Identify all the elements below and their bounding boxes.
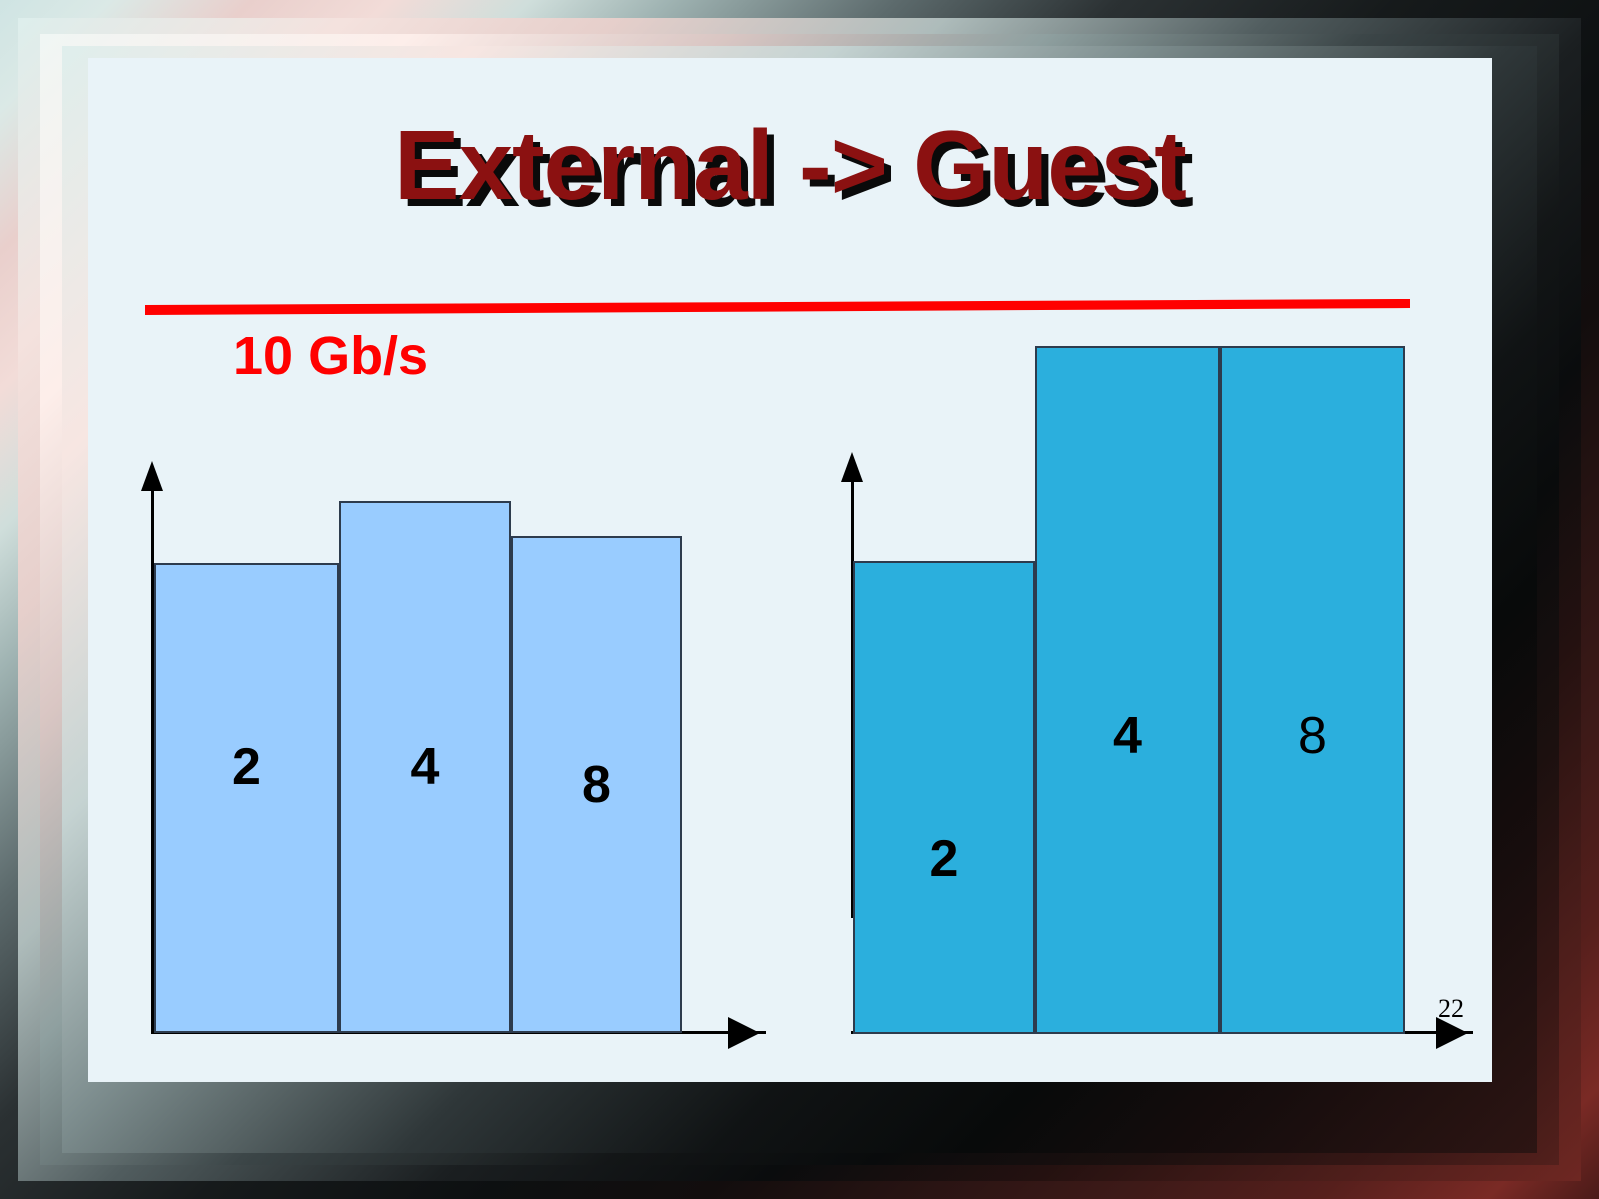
slide-canvas: External -> Guest 10 Gb/s 2 4 8 <box>88 58 1492 1082</box>
right-chart-bar-1-value: 2 <box>853 833 1035 885</box>
left-chart: 2 4 8 <box>128 453 788 1048</box>
right-chart-bar-2-value: 4 <box>1035 710 1220 762</box>
left-chart-bar-1-value: 2 <box>154 741 339 793</box>
left-chart-bar-2-value: 4 <box>339 741 511 793</box>
right-chart-y-axis-arrowhead <box>841 452 863 482</box>
title-underline-rule <box>145 299 1410 315</box>
bandwidth-label: 10 Gb/s <box>233 325 428 387</box>
right-chart-bar-3 <box>1220 346 1405 1034</box>
right-chart: 2 4 8 <box>828 338 1492 1048</box>
page-title: External -> Guest <box>88 114 1492 217</box>
right-chart-bar-3-value: 8 <box>1220 710 1405 762</box>
right-chart-bar-1 <box>853 561 1035 1034</box>
page-number: 22 <box>1438 994 1464 1024</box>
right-chart-bar-2 <box>1035 346 1220 1034</box>
left-chart-x-axis-arrowhead <box>728 1017 760 1049</box>
left-chart-bar-3-value: 8 <box>511 759 682 811</box>
left-chart-bar-1 <box>154 563 339 1033</box>
left-chart-y-axis-arrowhead <box>141 461 163 491</box>
decorative-picture-frame: External -> Guest 10 Gb/s 2 4 8 <box>0 0 1599 1199</box>
